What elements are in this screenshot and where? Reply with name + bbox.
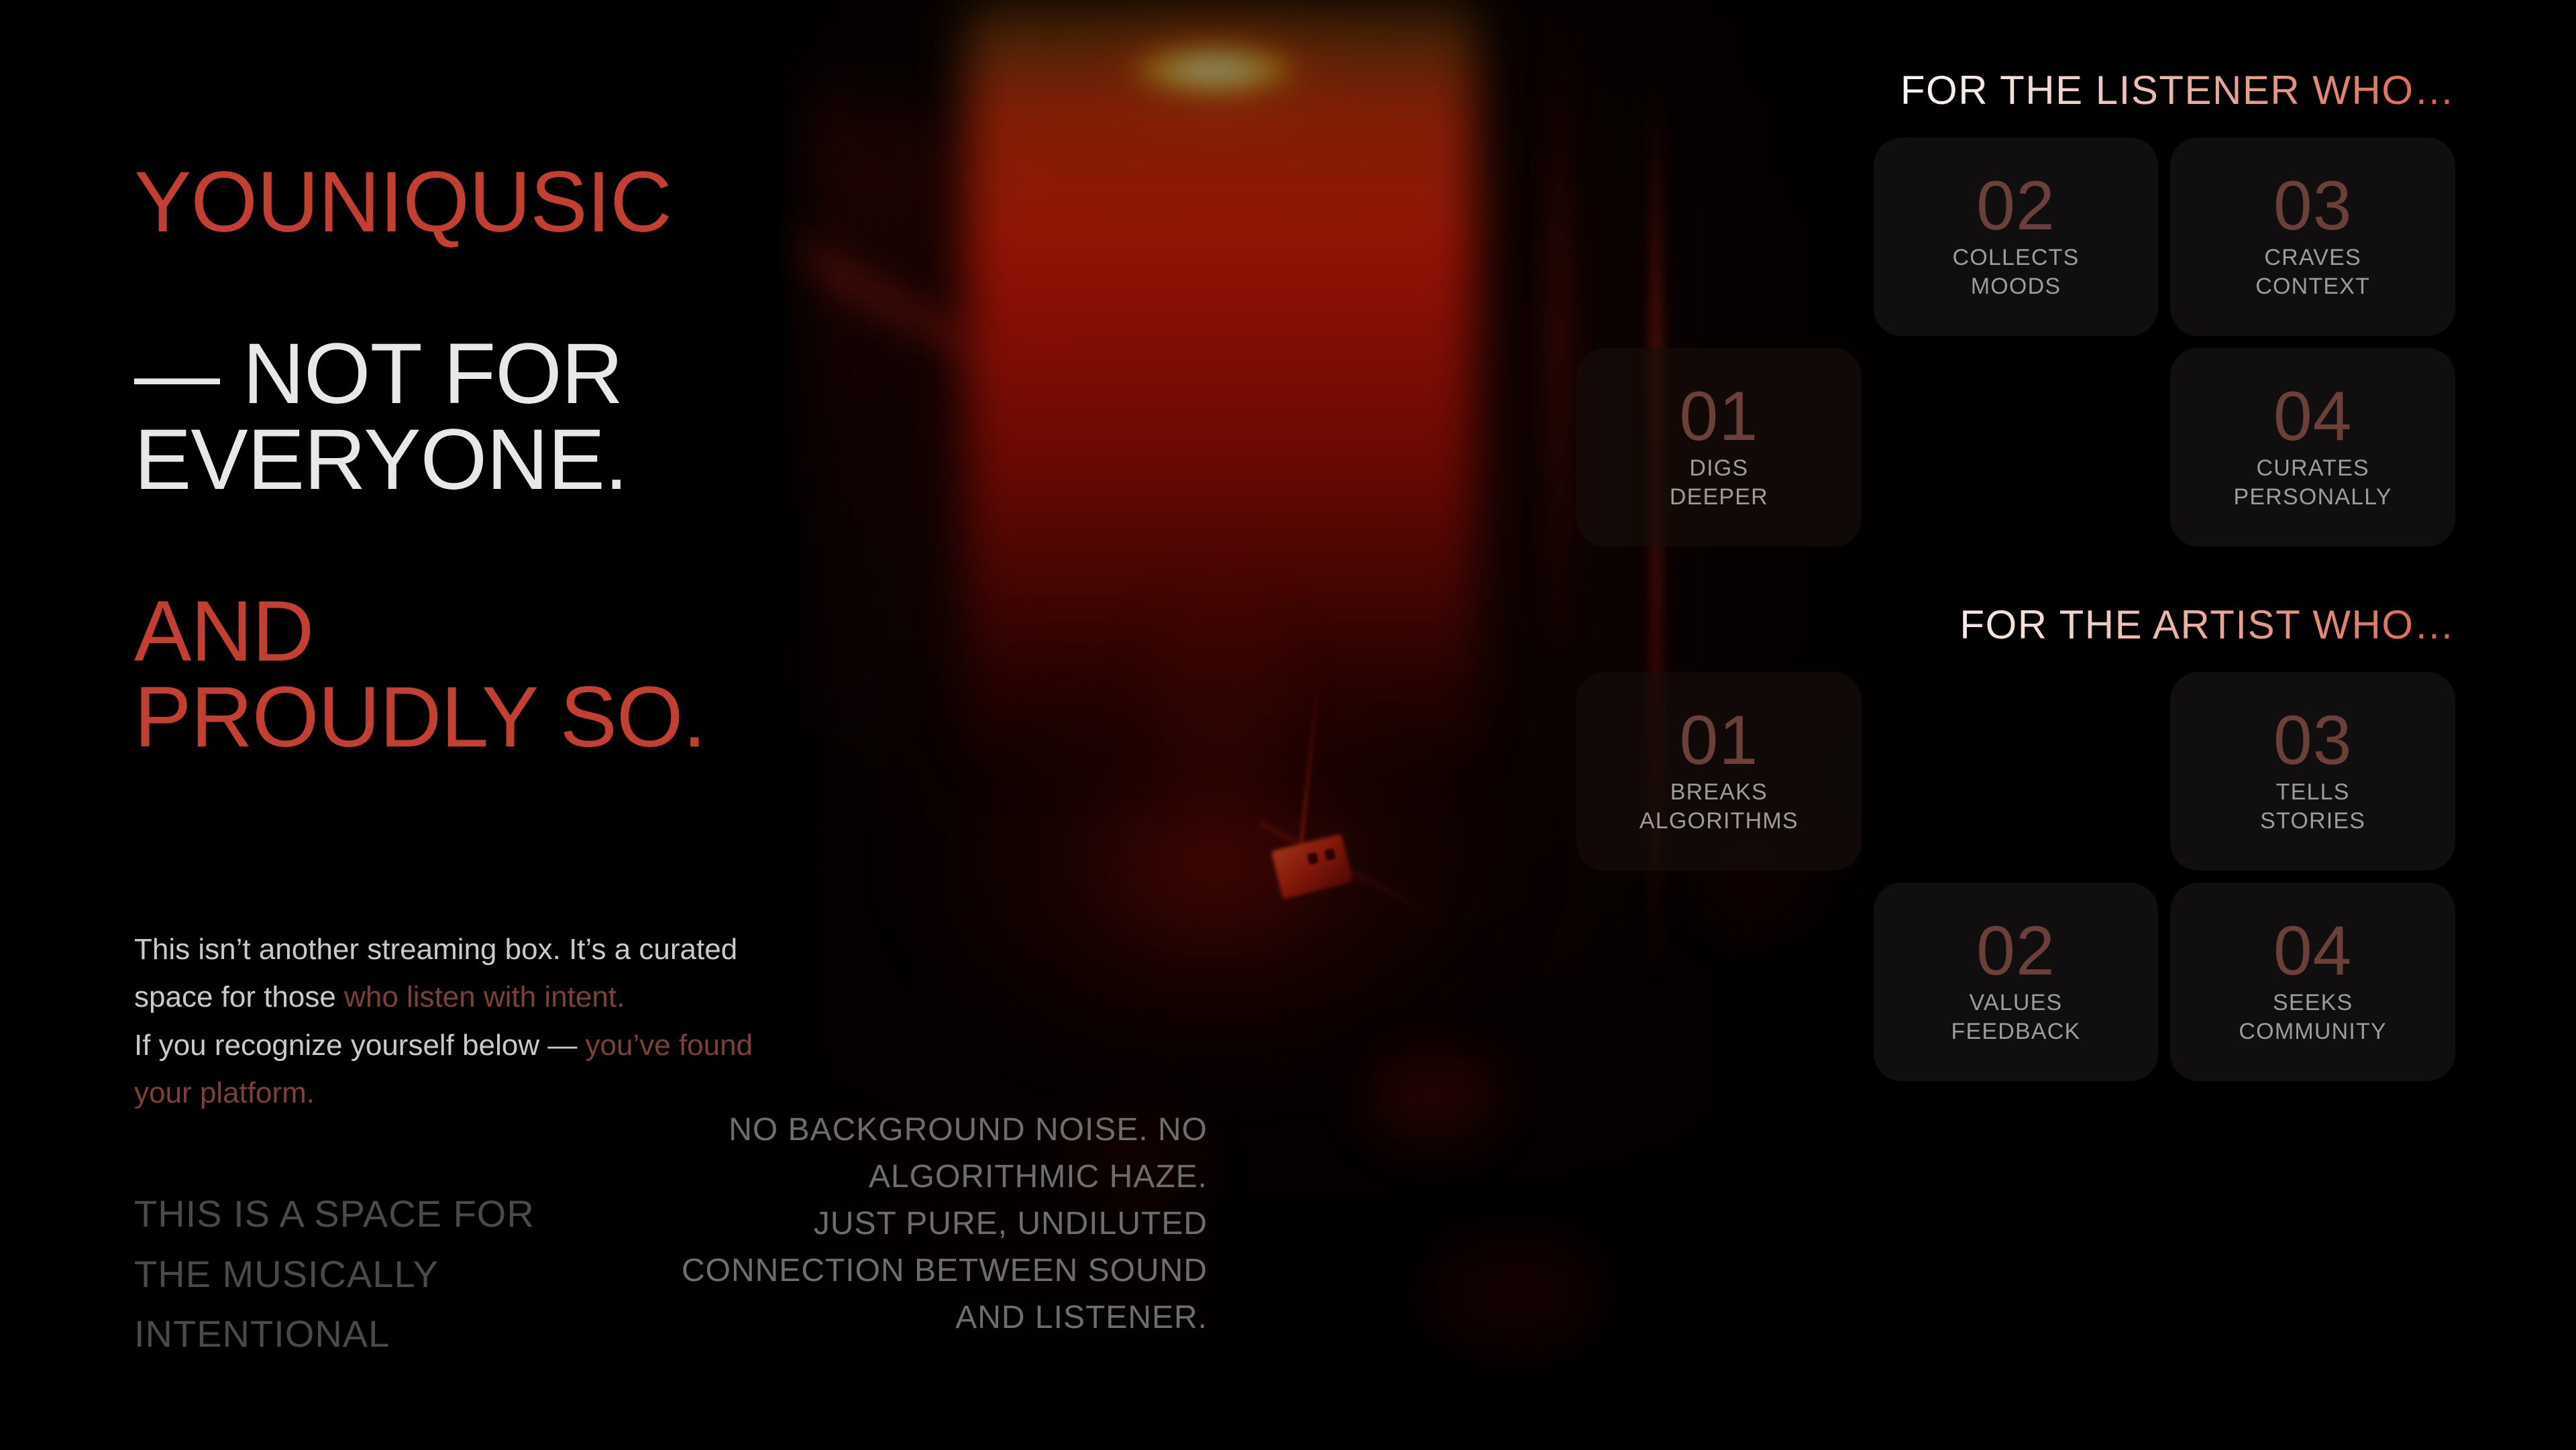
listener-card-01[interactable]: 01 DIGS DEEPER bbox=[1576, 348, 1862, 547]
hero-lede-part-2: If you recognize yourself below — bbox=[134, 1029, 586, 1062]
page-root: YOUNIQUSIC — NOT FOR EVERYONE. AND PROUD… bbox=[0, 0, 2576, 1450]
artist-card-02-label: VALUES FEEDBACK bbox=[1951, 989, 2081, 1046]
artist-card-04[interactable]: 04 SEEKS COMMUNITY bbox=[2170, 883, 2455, 1081]
artist-card-01-number: 01 bbox=[1679, 710, 1758, 773]
audience-panel: FOR THE LISTENER WHO… 01 DIGS DEEPER 02 … bbox=[1865, 67, 2455, 1081]
artist-card-02[interactable]: 02 VALUES FEEDBACK bbox=[1874, 883, 2159, 1081]
artist-card-grid: 01 BREAKS ALGORITHMS 03 TELLS STORIES 02… bbox=[1576, 672, 2455, 1081]
listener-card-02-number: 02 bbox=[1976, 175, 2055, 238]
listener-card-03-label: CRAVES CONTEXT bbox=[2255, 243, 2370, 301]
listener-card-grid: 01 DIGS DEEPER 02 COLLECTS MOODS 03 CRAV… bbox=[1576, 137, 2455, 547]
page-title: YOUNIQUSIC — NOT FOR EVERYONE. AND PROUD… bbox=[134, 74, 885, 846]
listener-card-01-label: DIGS DEEPER bbox=[1670, 454, 1768, 512]
artist-card-03[interactable]: 03 TELLS STORIES bbox=[2170, 672, 2455, 871]
artist-card-01-label: BREAKS ALGORITHMS bbox=[1640, 778, 1799, 836]
listener-card-04-label: CURATES PERSONALLY bbox=[2234, 454, 2392, 512]
listener-card-03-number: 03 bbox=[2273, 175, 2353, 238]
listener-card-04[interactable]: 04 CURATES PERSONALLY bbox=[2170, 348, 2455, 547]
hero-lede-accent-1: who listen with intent. bbox=[344, 981, 625, 1013]
artist-card-04-label: SEEKS COMMUNITY bbox=[2239, 989, 2386, 1046]
artist-section-heading: FOR THE ARTIST WHO… bbox=[1865, 602, 2455, 648]
listener-card-02-label: COLLECTS MOODS bbox=[1952, 243, 2079, 301]
artist-card-03-number: 03 bbox=[2273, 710, 2353, 773]
artist-card-01[interactable]: 01 BREAKS ALGORITHMS bbox=[1576, 672, 1862, 871]
artist-card-02-number: 02 bbox=[1976, 920, 2055, 983]
artist-card-04-number: 04 bbox=[2273, 920, 2353, 983]
page-title-line-3: AND PROUDLY SO. bbox=[134, 589, 885, 761]
listener-card-02[interactable]: 02 COLLECTS MOODS bbox=[1874, 137, 2159, 336]
hero-lede: This isn’t another streaming box. It’s a… bbox=[134, 926, 805, 1117]
manifesto-statement: NO BACKGROUND NOISE. NO ALGORITHMIC HAZE… bbox=[657, 1107, 1207, 1341]
listener-card-01-number: 01 bbox=[1679, 386, 1758, 449]
artist-card-03-label: TELLS STORIES bbox=[2260, 778, 2365, 836]
listener-card-04-number: 04 bbox=[2273, 386, 2353, 449]
listener-section-heading: FOR THE LISTENER WHO… bbox=[1865, 67, 2455, 113]
listener-card-03[interactable]: 03 CRAVES CONTEXT bbox=[2170, 137, 2455, 336]
page-title-brand: YOUNIQUSIC bbox=[134, 160, 885, 245]
page-title-line-2: — NOT FOR EVERYONE. bbox=[134, 331, 885, 503]
artist-heading-wrap: FOR THE ARTIST WHO… bbox=[1865, 602, 2455, 648]
